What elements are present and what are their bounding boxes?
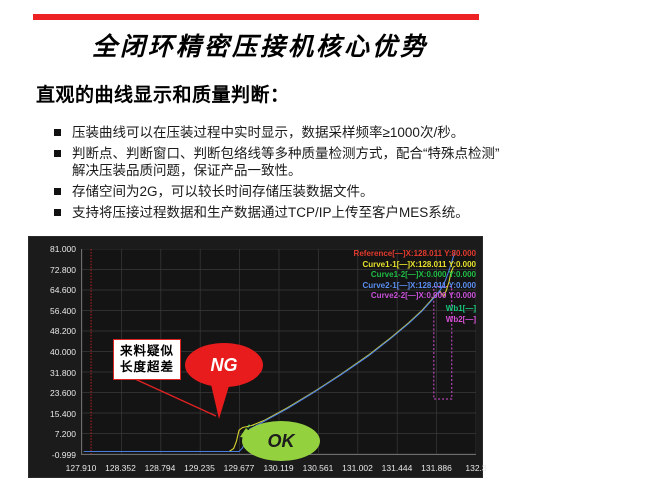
x-axis-tick: 131.002 xyxy=(342,463,373,473)
slide-root: 全闭环精密压接机核心优势 直观的曲线显示和质量判断： 压装曲线可以在压装过程中实… xyxy=(0,0,650,487)
title-rule xyxy=(33,14,479,20)
list-item-text: 存储空间为2G，可以较长时间存储压装数据文件。 xyxy=(72,184,374,199)
chart-x-axis: 127.910128.352128.794129.235129.677130.1… xyxy=(81,459,476,473)
x-axis-tick: 131.444 xyxy=(382,463,413,473)
list-item-text: 判断点、判断窗口、判断包络线等多种质量检测方式，配合“特殊点检测” xyxy=(72,146,500,161)
x-axis-tick: 131.886 xyxy=(421,463,452,473)
x-axis-tick: 130.561 xyxy=(303,463,334,473)
y-axis-tick: 7.200 xyxy=(29,429,81,439)
legend-item-curve1-2[interactable]: Curve1-2[—]X:0.000 Y:0.000 xyxy=(354,270,476,281)
bullet-square-icon xyxy=(54,129,61,136)
legend-item-curve1-1[interactable]: Curve1-1[—]X:128.011 Y:0.000 xyxy=(354,260,476,271)
x-axis-tick: 129.677 xyxy=(224,463,255,473)
y-axis-tick: -0.999 xyxy=(29,450,81,460)
chart-y-axis: 81.00072.80064.60056.40048.20040.00031.8… xyxy=(29,249,81,455)
legend-item-curve2-2[interactable]: Curve2-2[—]X:0.000 Y:0.000 xyxy=(354,291,476,302)
chart-legend[interactable]: Reference[—]X:128.011 Y:80.000Curve1-1[—… xyxy=(354,249,476,326)
x-axis-tick: 132.3 xyxy=(465,463,486,473)
list-item-text: 支持将压接过程数据和生产数据通过TCP/IP上传至客户MES系统。 xyxy=(72,205,469,220)
y-axis-tick: 64.600 xyxy=(29,285,81,295)
ok-badge: OK xyxy=(242,421,320,461)
bullet-square-icon xyxy=(54,188,61,195)
callout-note-line1: 来料疑似 xyxy=(120,343,174,359)
y-axis-tick: 56.400 xyxy=(29,306,81,316)
y-axis-tick: 72.800 xyxy=(29,265,81,275)
x-axis-tick: 128.794 xyxy=(145,463,176,473)
list-item: 压装曲线可以在压装过程中实时显示，数据采样频率≥1000次/秒。 xyxy=(52,124,632,141)
x-axis-tick: 127.910 xyxy=(66,463,97,473)
bullet-list: 压装曲线可以在压装过程中实时显示，数据采样频率≥1000次/秒。 判断点、判断窗… xyxy=(52,124,632,225)
bullet-square-icon xyxy=(54,209,61,216)
y-axis-tick: 31.800 xyxy=(29,368,81,378)
callout-note: 来料疑似 长度超差 xyxy=(113,339,181,380)
legend-item-reference[interactable]: Reference[—]X:128.011 Y:80.000 xyxy=(354,249,476,260)
x-axis-tick: 130.119 xyxy=(263,463,293,473)
list-item-text-line2: 解决压装品质问题，保证产品一致性。 xyxy=(72,162,632,179)
list-item-text: 压装曲线可以在压装过程中实时显示，数据采样频率≥1000次/秒。 xyxy=(72,125,464,140)
section-subtitle: 直观的曲线显示和质量判断： xyxy=(36,80,290,107)
y-axis-tick: 48.200 xyxy=(29,326,81,336)
x-axis-tick: 129.235 xyxy=(184,463,215,473)
x-axis-tick: 128.352 xyxy=(105,463,136,473)
list-item: 判断点、判断窗口、判断包络线等多种质量检测方式，配合“特殊点检测” 解决压装品质… xyxy=(52,145,632,179)
list-item: 存储空间为2G，可以较长时间存储压装数据文件。 xyxy=(52,183,632,200)
y-axis-tick: 40.000 xyxy=(29,347,81,357)
y-axis-tick: 23.600 xyxy=(29,388,81,398)
legend-item-wb2[interactable]: Wb2[—] xyxy=(354,315,476,326)
bullet-square-icon xyxy=(54,150,61,157)
ng-badge: NG xyxy=(185,343,263,387)
legend-item-wb1[interactable]: Wb1[—] xyxy=(354,304,476,315)
callout-note-line2: 长度超差 xyxy=(120,359,174,375)
legend-item-curve2-1[interactable]: Curve2-1[—]X:128.011 Y:0.000 xyxy=(354,281,476,292)
y-axis-tick: 81.000 xyxy=(29,244,81,254)
page-title: 全闭环精密压接机核心优势 xyxy=(0,27,520,63)
y-axis-tick: 15.400 xyxy=(29,409,81,419)
list-item: 支持将压接过程数据和生产数据通过TCP/IP上传至客户MES系统。 xyxy=(52,204,632,221)
